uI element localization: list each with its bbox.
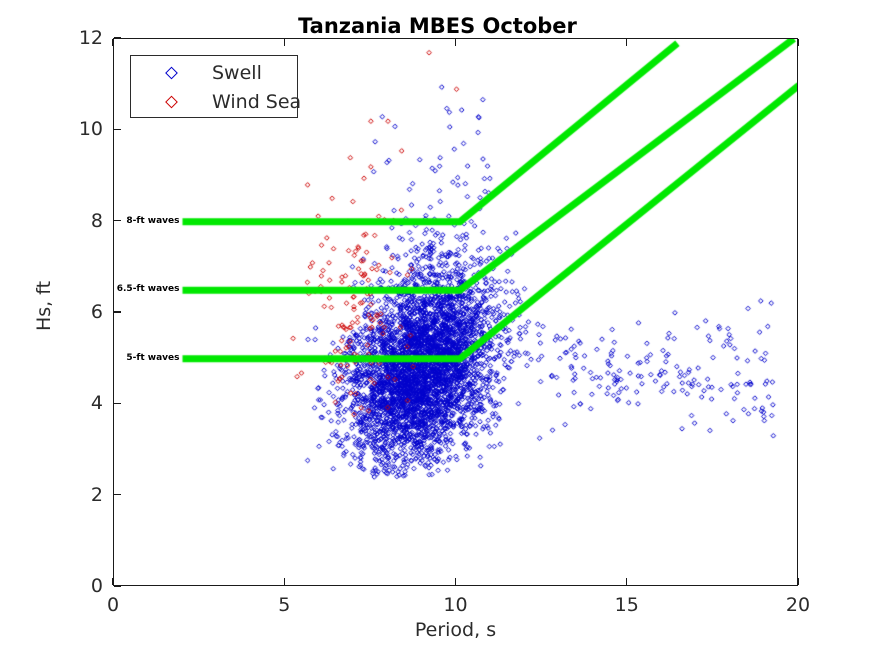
threshold-annotation: 5-ft waves: [0, 353, 180, 363]
x-tick-label: 5: [278, 594, 290, 616]
plot-area: [113, 38, 798, 586]
x-tick-label: 10: [443, 594, 467, 616]
legend: Swell Wind Sea: [130, 55, 298, 118]
y-tick-mark: [114, 129, 121, 130]
x-tick-mark: [112, 39, 113, 46]
y-tick-mark: [114, 403, 121, 404]
y-axis-label: Hs, ft: [33, 246, 55, 366]
x-tick-mark: [626, 578, 627, 585]
y-tick-mark: [114, 311, 121, 312]
wind-sea-marker-icon: [165, 95, 178, 108]
legend-label-swell: Swell: [212, 62, 262, 84]
legend-item-wind-sea[interactable]: Wind Sea: [131, 86, 299, 117]
x-tick-label: 20: [786, 594, 810, 616]
x-tick-label: 15: [615, 594, 639, 616]
x-tick-mark: [626, 39, 627, 46]
y-tick-label: 0: [47, 575, 103, 597]
y-tick-label: 4: [47, 392, 103, 414]
x-tick-mark: [455, 578, 456, 585]
y-tick-label: 12: [47, 27, 103, 49]
y-tick-label: 2: [47, 484, 103, 506]
x-tick-mark: [284, 578, 285, 585]
page-title: Tanzania MBES October: [0, 14, 875, 38]
x-tick-label: 0: [107, 594, 119, 616]
y-tick-label: 6: [47, 301, 103, 323]
x-tick-mark: [112, 578, 113, 585]
threshold-annotation: 8-ft waves: [0, 216, 180, 226]
y-tick-mark: [114, 585, 121, 586]
x-tick-mark: [284, 39, 285, 46]
x-tick-mark: [797, 39, 798, 46]
y-tick-label: 10: [47, 118, 103, 140]
x-axis-label: Period, s: [113, 619, 798, 641]
legend-label-wind-sea: Wind Sea: [212, 91, 301, 113]
scatter-figure: Tanzania MBES October 02468101205101520 …: [0, 0, 875, 656]
y-tick-mark: [114, 494, 121, 495]
y-tick-mark: [114, 37, 121, 38]
x-tick-mark: [797, 578, 798, 585]
threshold-lines-layer: [114, 39, 798, 586]
threshold-annotation: 6.5-ft waves: [0, 284, 180, 294]
x-tick-mark: [455, 39, 456, 46]
swell-marker-icon: [165, 66, 178, 79]
legend-item-swell[interactable]: Swell: [131, 57, 299, 88]
